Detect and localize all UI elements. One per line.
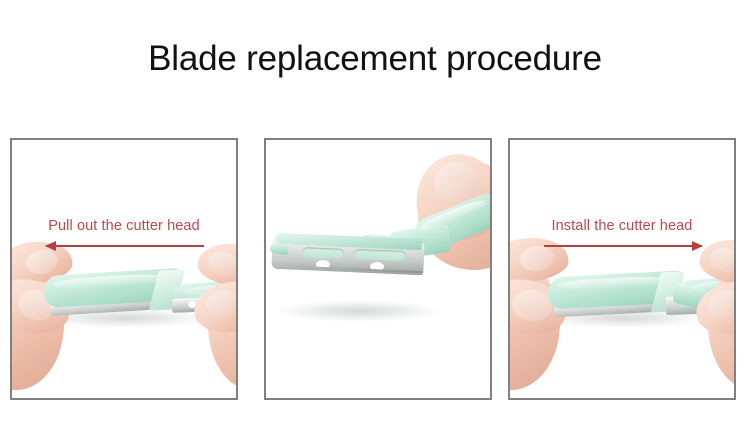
- product-shadow: [274, 300, 444, 322]
- step-panel-2-image: [266, 140, 490, 398]
- arrow-line: [46, 245, 204, 247]
- step-1-caption: Pull out the cutter head: [12, 218, 236, 234]
- arrow-head: [45, 241, 56, 251]
- page-title: Blade replacement procedure: [0, 38, 750, 80]
- step-3-caption: Install the cutter head: [510, 218, 734, 234]
- step-panel-1: Pull out the cutter head: [10, 138, 238, 400]
- arrow-line: [544, 245, 702, 247]
- blade-tip-hook: [270, 243, 289, 255]
- arrow-head: [692, 241, 703, 251]
- step-panel-2: [264, 138, 492, 400]
- step-panel-3-image: Install the cutter head: [510, 140, 734, 398]
- arrow-right-icon: [544, 240, 702, 252]
- step-panel-3: Install the cutter head: [508, 138, 736, 400]
- blade-slot-left: [302, 247, 344, 259]
- step-panel-1-image: Pull out the cutter head: [12, 140, 236, 398]
- arrow-left-icon: [46, 240, 204, 252]
